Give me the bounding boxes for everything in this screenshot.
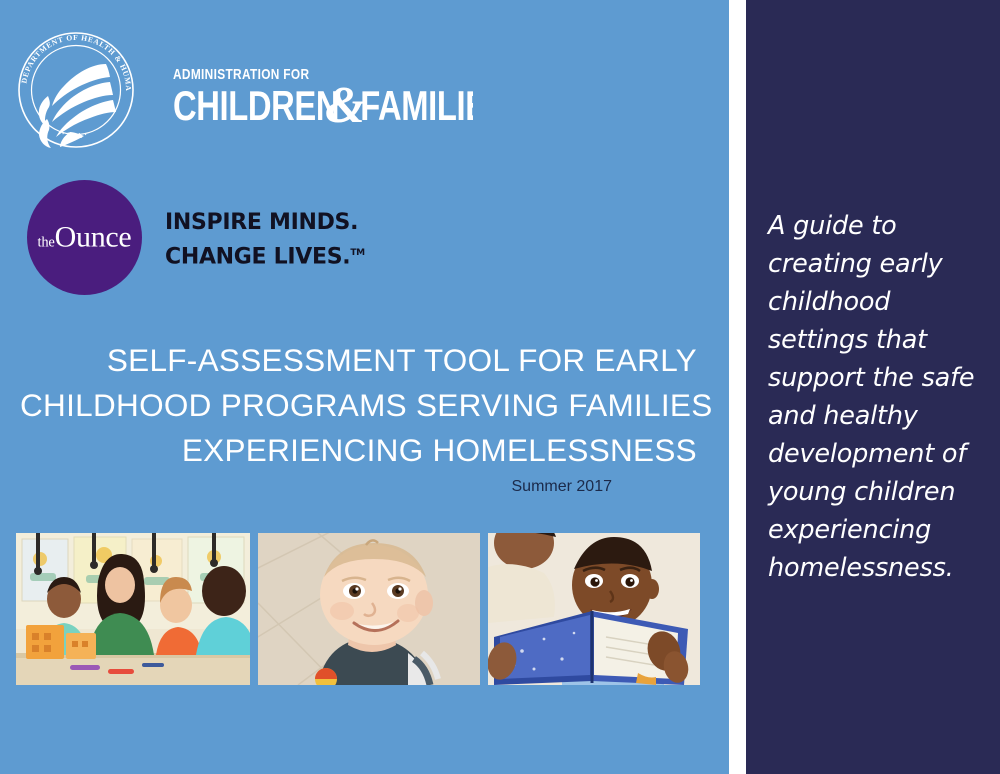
photo-strip (16, 533, 700, 685)
title-line-2: CHILDHOOD PROGRAMS SERVING FAMILIES (20, 383, 697, 428)
acf-logo: ADMINISTRATION FOR CHILDREN & FAMILIES (173, 62, 473, 138)
ounce-tagline-line2-wrap: CHANGE LIVES.TM (165, 238, 365, 272)
acf-ampersand: & (325, 77, 365, 134)
acf-line2-children: CHILDREN (173, 82, 339, 129)
ounce-the-label: the (38, 234, 55, 250)
left-blue-panel: DEPARTMENT OF HEALTH & HUMAN SERVICES · … (0, 0, 729, 774)
page-title: SELF-ASSESSMENT TOOL FOR EARLY CHILDHOOD… (20, 338, 697, 473)
acf-line2-families: FAMILIES (360, 82, 473, 129)
publication-date: Summer 2017 (20, 478, 697, 496)
ounce-tagline: INSPIRE MINDS. CHANGE LIVES.TM (165, 208, 365, 272)
ounce-name-label: Ounce (55, 220, 132, 253)
right-navy-panel: A guide to creating early childhood sett… (746, 0, 1000, 774)
acf-line1: ADMINISTRATION FOR (173, 66, 309, 82)
hhs-seal-icon: DEPARTMENT OF HEALTH & HUMAN SERVICES · … (14, 26, 138, 154)
cover-subtitle: A guide to creating early childhood sett… (768, 207, 986, 587)
ounce-tagline-line2: CHANGE LIVES. (165, 244, 350, 269)
title-line-1: SELF-ASSESSMENT TOOL FOR EARLY (20, 338, 697, 383)
trademark-symbol: TM (350, 248, 365, 258)
document-cover-page: DEPARTMENT OF HEALTH & HUMAN SERVICES · … (0, 0, 1000, 774)
ounce-logo-mark: theOunce (27, 180, 142, 295)
photo-smiling-baby (258, 533, 480, 685)
ounce-logo-mark-text: theOunce (27, 220, 142, 254)
photo-classroom-teacher-children (16, 533, 250, 685)
ounce-tagline-line1: INSPIRE MINDS. (165, 208, 365, 238)
title-line-3: EXPERIENCING HOMELESSNESS (20, 428, 697, 473)
photo-child-reading-book (488, 533, 700, 685)
